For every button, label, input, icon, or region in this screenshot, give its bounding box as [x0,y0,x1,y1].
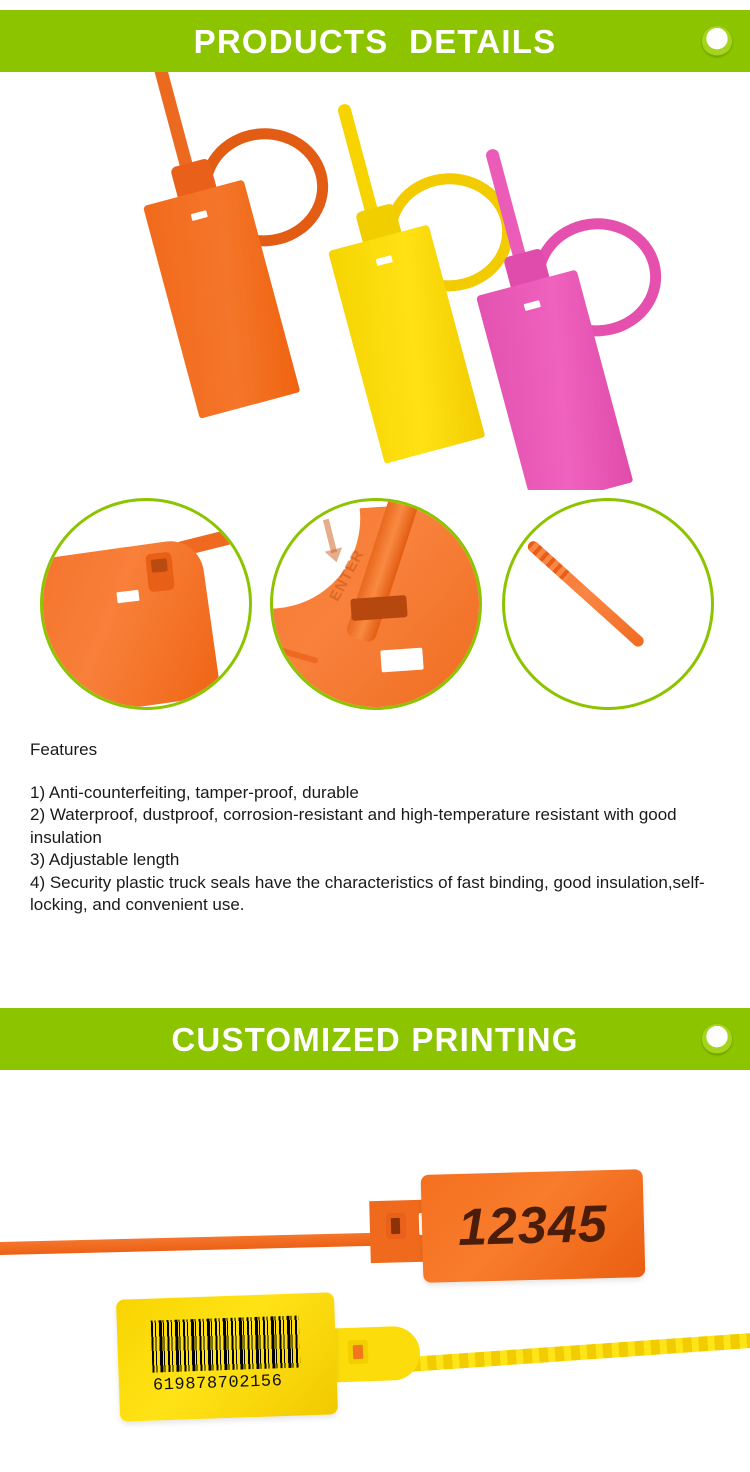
hero-product-photo [0,72,750,490]
yellow-seal-barcode-tag: 619878702156 [116,1292,338,1422]
features-heading: Features [30,740,730,760]
detail-photo-1 [43,501,249,707]
barcode-icon [151,1315,301,1372]
yellow-seal-shoulder [329,1325,421,1382]
chevron-down-glyph [710,1033,724,1044]
feature-item: 4) Security plastic truck seals have the… [30,872,730,917]
seal-strap-ribs [526,539,572,582]
chevron-down-glyph [710,35,724,46]
seal-strap [337,103,381,222]
detail-photo-3 [505,501,711,707]
chevron-down-circle-icon[interactable] [702,26,732,56]
detail-circle-strap [502,498,714,710]
feature-item: 1) Anti-counterfeiting, tamper-proof, du… [30,782,730,804]
seal-white-window [380,648,423,673]
feature-item: 2) Waterproof, dustproof, corrosion-resi… [30,804,730,849]
products-details-banner: PRODUCTS DETAILS [0,10,750,72]
seal-body-notch [270,502,366,610]
orange-seal-printed-tag: 12345 [421,1169,646,1283]
chevron-down-circle-icon[interactable] [702,1024,732,1054]
seal-lock-hole [350,595,407,621]
detail-circles-row: ENTER [0,492,750,722]
products-details-title: PRODUCTS DETAILS [194,25,557,58]
seal-strap [152,72,196,177]
seal-lock-barrel [145,552,175,593]
features-list: 1) Anti-counterfeiting, tamper-proof, du… [30,782,730,917]
customized-printing-photo [0,1100,750,1472]
seal-head [40,537,221,710]
customized-printing-title: CUSTOMIZED PRINTING [171,1023,578,1056]
feature-item: 3) Adjustable length [30,849,730,871]
seal-strap [526,539,646,649]
features-section: Features 1) Anti-counterfeiting, tamper-… [30,740,730,917]
customized-printing-banner: CUSTOMIZED PRINTING [0,1008,750,1070]
detail-circle-seal-head [40,498,252,710]
detail-circle-lock-mechanism: ENTER [270,498,482,710]
orange-seal-lock-barrel [386,1213,407,1240]
printed-number: 12345 [457,1198,608,1254]
yellow-seal-lock-barrel [347,1339,368,1364]
barcode-number: 619878702156 [153,1372,283,1396]
detail-photo-2: ENTER [273,501,479,707]
